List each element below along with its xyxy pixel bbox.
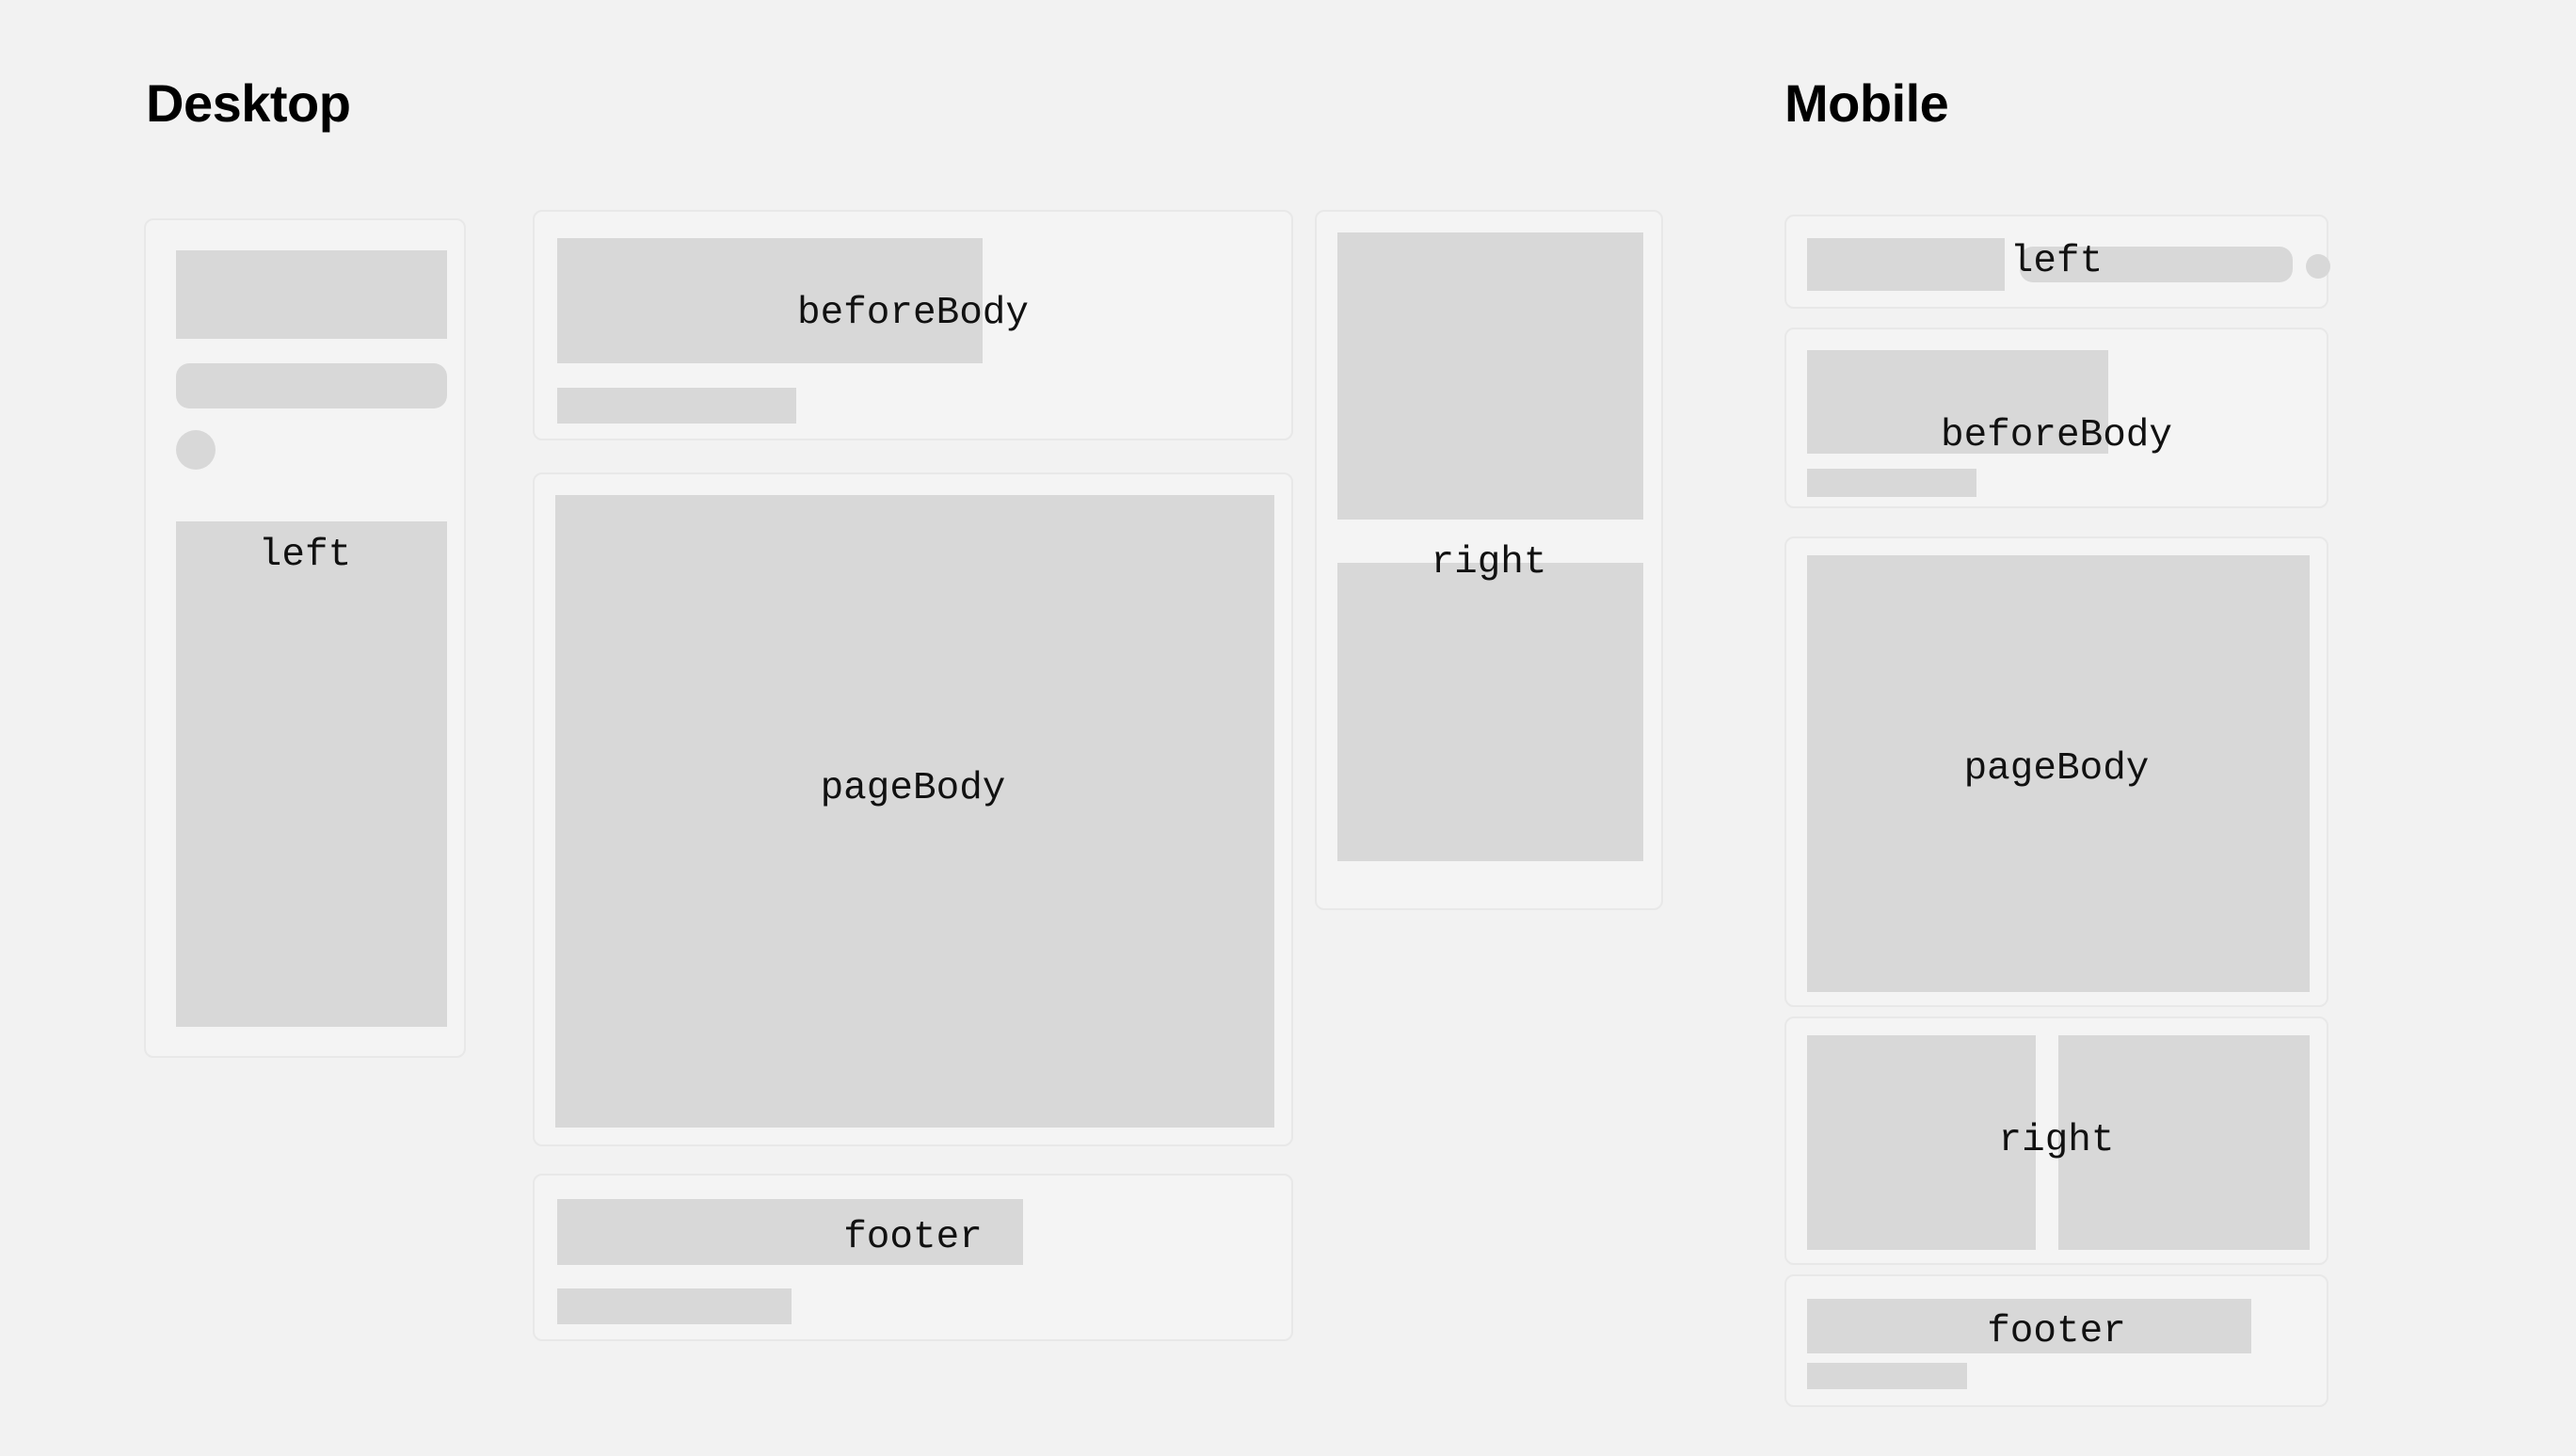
desktop-section-title: Desktop (146, 77, 350, 130)
placeholder-bar (557, 388, 796, 424)
mobile-before-body-slot-panel[interactable] (1784, 328, 2328, 508)
placeholder-avatar-circle (176, 430, 216, 470)
desktop-right-slot-panel[interactable] (1315, 210, 1663, 910)
placeholder-bar (2020, 247, 2293, 282)
placeholder-block (1337, 563, 1643, 861)
placeholder-bar (1807, 469, 1976, 497)
placeholder-block (1807, 1299, 2251, 1353)
mobile-footer-slot-panel[interactable] (1784, 1274, 2328, 1407)
placeholder-block (557, 238, 983, 363)
placeholder-avatar-circle (2306, 254, 2330, 279)
placeholder-block (176, 250, 447, 339)
mobile-right-slot-panel[interactable] (1784, 1016, 2328, 1265)
desktop-footer-slot-panel[interactable] (533, 1174, 1293, 1341)
placeholder-block (1807, 350, 2108, 454)
placeholder-block (1807, 1035, 2036, 1250)
mobile-page-body-slot-panel[interactable] (1784, 536, 2328, 1007)
placeholder-block (2058, 1035, 2310, 1250)
desktop-before-body-slot-panel[interactable] (533, 210, 1293, 440)
mobile-section-title: Mobile (1784, 77, 1948, 130)
placeholder-block (176, 521, 447, 1027)
mobile-left-slot-panel[interactable] (1784, 215, 2328, 309)
placeholder-bar (176, 363, 447, 408)
placeholder-block (557, 1199, 1023, 1265)
placeholder-block (1807, 555, 2310, 992)
placeholder-bar (557, 1288, 792, 1324)
placeholder-block (555, 495, 1274, 1128)
placeholder-block (1337, 232, 1643, 520)
desktop-left-slot-panel[interactable] (144, 218, 466, 1058)
desktop-page-body-slot-panel[interactable] (533, 472, 1293, 1146)
placeholder-block (1807, 238, 2005, 291)
placeholder-bar (1807, 1363, 1967, 1389)
layout-preview-canvas: { "sections": { "desktop": { "title": "D… (0, 0, 2576, 1456)
